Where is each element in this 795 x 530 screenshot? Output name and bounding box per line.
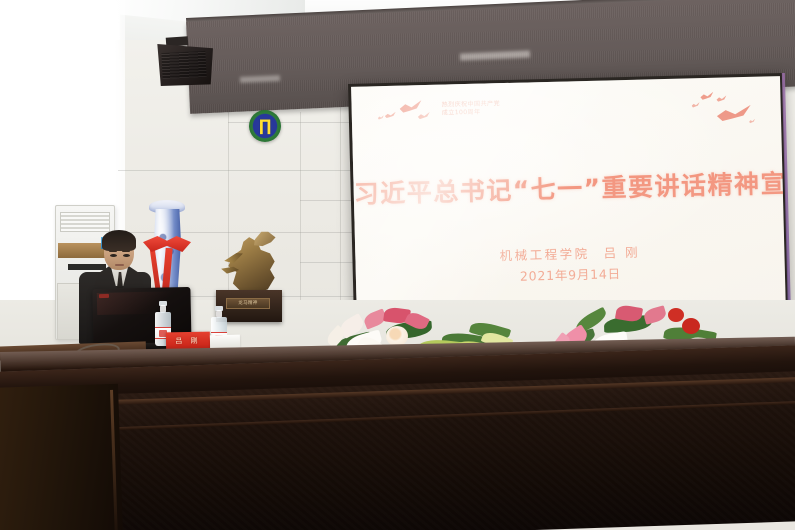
projection-screen-frame: 热烈庆祝中国共产党 成立100周年 习近平总书记“七一”重要讲话精神宣讲 机械工… <box>348 73 789 316</box>
wall-seam <box>300 262 358 263</box>
dove-icon <box>749 119 755 124</box>
slide-header-line2: 成立100周年 <box>442 108 501 117</box>
air-conditioner-vent <box>68 264 106 270</box>
dove-icon <box>716 95 726 102</box>
presenter-eyebrow <box>122 250 130 252</box>
dove-icon <box>399 100 421 115</box>
dove-icon-group-right <box>686 89 757 129</box>
paper-stack <box>210 335 240 349</box>
red-flower <box>682 318 700 334</box>
slide-presenter-name: 吕 刚 <box>603 245 640 261</box>
projection-screen: 热烈庆祝中国共产党 成立100周年 习近平总书记“七一”重要讲话精神宣讲 机械工… <box>351 76 786 313</box>
laptop-logo <box>99 294 109 298</box>
laptop-lid-sheen <box>97 291 187 315</box>
presenter-eye <box>110 254 117 257</box>
wall-seam <box>300 200 358 201</box>
dove-icon <box>418 112 430 120</box>
dove-icon <box>700 92 713 101</box>
podium-left-post <box>0 384 123 530</box>
slide-title: 习近平总书记“七一”重要讲话精神宣讲 <box>353 164 783 211</box>
conference-hall-photo: ∏ 热烈庆祝中国共产党 成立100周年 <box>0 0 795 530</box>
red-flower <box>668 308 684 322</box>
presenter-mouth <box>115 264 124 266</box>
dove-icon <box>378 115 384 120</box>
institution-emblem-mark: ∏ <box>257 117 273 134</box>
presenter-hair <box>102 230 136 251</box>
slide-header-text: 热烈庆祝中国共产党 成立100周年 <box>441 100 500 117</box>
presenter-eye <box>123 254 130 257</box>
presenter-eyebrow <box>109 250 117 252</box>
wall-seam <box>228 122 358 123</box>
horse-sculpture-plaque-text: 龙马精神 <box>228 299 268 308</box>
dove-icon <box>385 112 396 119</box>
dove-icon <box>692 102 700 108</box>
desk-nameplate-text: 吕 刚 <box>166 334 210 349</box>
air-conditioner-grill <box>60 212 110 232</box>
speaker-grill <box>161 51 206 79</box>
rose-flower <box>386 326 408 346</box>
wall-seam <box>118 232 358 233</box>
pink-flower <box>642 305 667 325</box>
dove-icon-group-left <box>377 99 436 122</box>
dove-icon <box>717 105 751 124</box>
wall-seam <box>118 170 358 171</box>
slide-presenter-org: 机械工程学院 <box>499 246 589 263</box>
slide-header-group: 热烈庆祝中国共产党 成立100周年 <box>377 97 500 122</box>
